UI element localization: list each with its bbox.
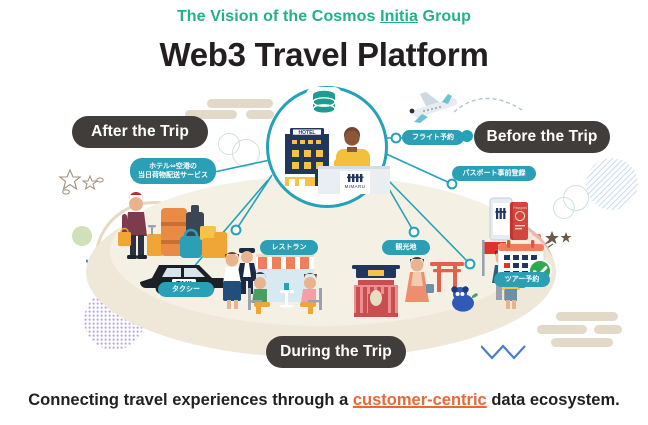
reception-counter-illustration: MIMARU xyxy=(318,158,390,194)
caption-prefix: Connecting travel experiences through a xyxy=(28,391,353,409)
database-icon xyxy=(305,86,343,122)
service-label-flight[interactable]: フライト予約 xyxy=(402,130,464,145)
service-label-sightseeing[interactable]: 観光地 xyxy=(382,240,430,255)
phase-pill-before-the-trip[interactable]: Before the Trip xyxy=(474,121,610,153)
cafe-scene-illustration xyxy=(236,252,344,318)
svg-text:Passport: Passport xyxy=(513,206,526,210)
baggage-label-line1: ホテル⇔空港の xyxy=(149,162,197,170)
caption-highlight: customer-centric xyxy=(353,391,487,409)
temple-building-illustration xyxy=(348,256,404,318)
phase-pill-after-the-trip[interactable]: After the Trip xyxy=(72,116,208,148)
svg-text:MIMARU: MIMARU xyxy=(345,184,366,189)
svg-text:HOTEL: HOTEL xyxy=(299,130,316,136)
service-label-passport[interactable]: パスポート事前登録 xyxy=(452,166,536,181)
panda-illustration xyxy=(448,286,478,312)
caption-suffix: data ecosystem. xyxy=(487,391,620,409)
service-label-tour[interactable]: ツアー予約 xyxy=(494,272,550,287)
phone-passport-illustration: Passport xyxy=(468,184,530,242)
baggage-label-line2: 当日荷物配送サービス xyxy=(138,171,208,179)
tourists-illustration xyxy=(404,256,436,314)
waitress-illustration xyxy=(218,250,246,310)
page-caption: Connecting travel experiences through a … xyxy=(0,391,648,410)
service-label-restaurant[interactable]: レストラン xyxy=(260,240,318,255)
slide-canvas: The Vision of the Cosmos Initia Group We… xyxy=(0,0,648,425)
flight-path-decoration xyxy=(452,84,542,126)
service-label-baggage[interactable]: ホテル⇔空港の 当日荷物配送サービス xyxy=(130,158,216,184)
service-label-taxi[interactable]: タクシー xyxy=(158,282,214,297)
phase-pill-during-the-trip[interactable]: During the Trip xyxy=(266,336,406,368)
